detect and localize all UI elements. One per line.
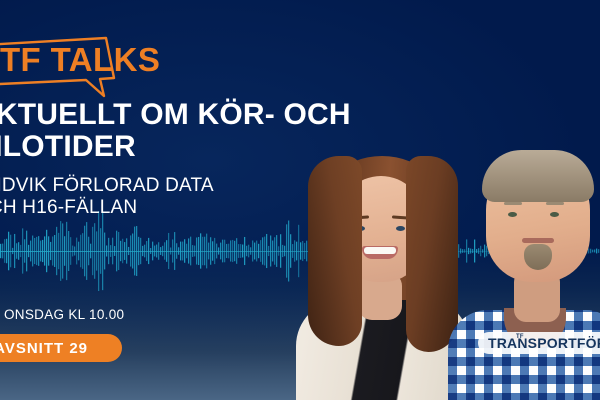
tf-talks-logo: TF TALKS [0,34,128,96]
transportforetagen-logo: TRANSPORTFÖRETAGEN TF [478,332,600,354]
episode-badge: AVSNITT 29 [0,334,122,362]
transportforetagen-mark: TF [516,334,524,340]
guest-right-brow-l [504,202,522,205]
promo-banner: TF TALKS AKTUELLT OM KÖR- OCH VILOTIDER … [0,0,600,400]
tf-talks-logo-text: TF TALKS [0,43,160,76]
headline-line-1: AKTUELLT OM KÖR- OCH [0,99,404,131]
guest-right-brow-r [546,202,564,205]
transportforetagen-logo-text: TRANSPORTFÖRETAGEN [488,336,600,350]
headline-line-2: VILOTIDER [0,131,404,163]
subheadline-line-2: OCH H16-FÄLLAN [0,197,404,219]
guest-right-shirt [448,310,600,400]
page-title: AKTUELLT OM KÖR- OCH VILOTIDER [0,99,404,163]
page-subtitle: UNDVIK FÖRLORAD DATA OCH H16-FÄLLAN [0,175,404,219]
guest-left-torso [296,300,468,400]
waveform-baseline [0,251,600,252]
guest-right-hair [482,150,594,202]
episode-badge-label: AVSNITT 29 [0,340,88,357]
audio-waveform [0,210,600,296]
airtime-label: ONSDAG KL 10.00 [4,307,124,322]
subheadline-line-1: UNDVIK FÖRLORAD DATA [0,175,404,197]
